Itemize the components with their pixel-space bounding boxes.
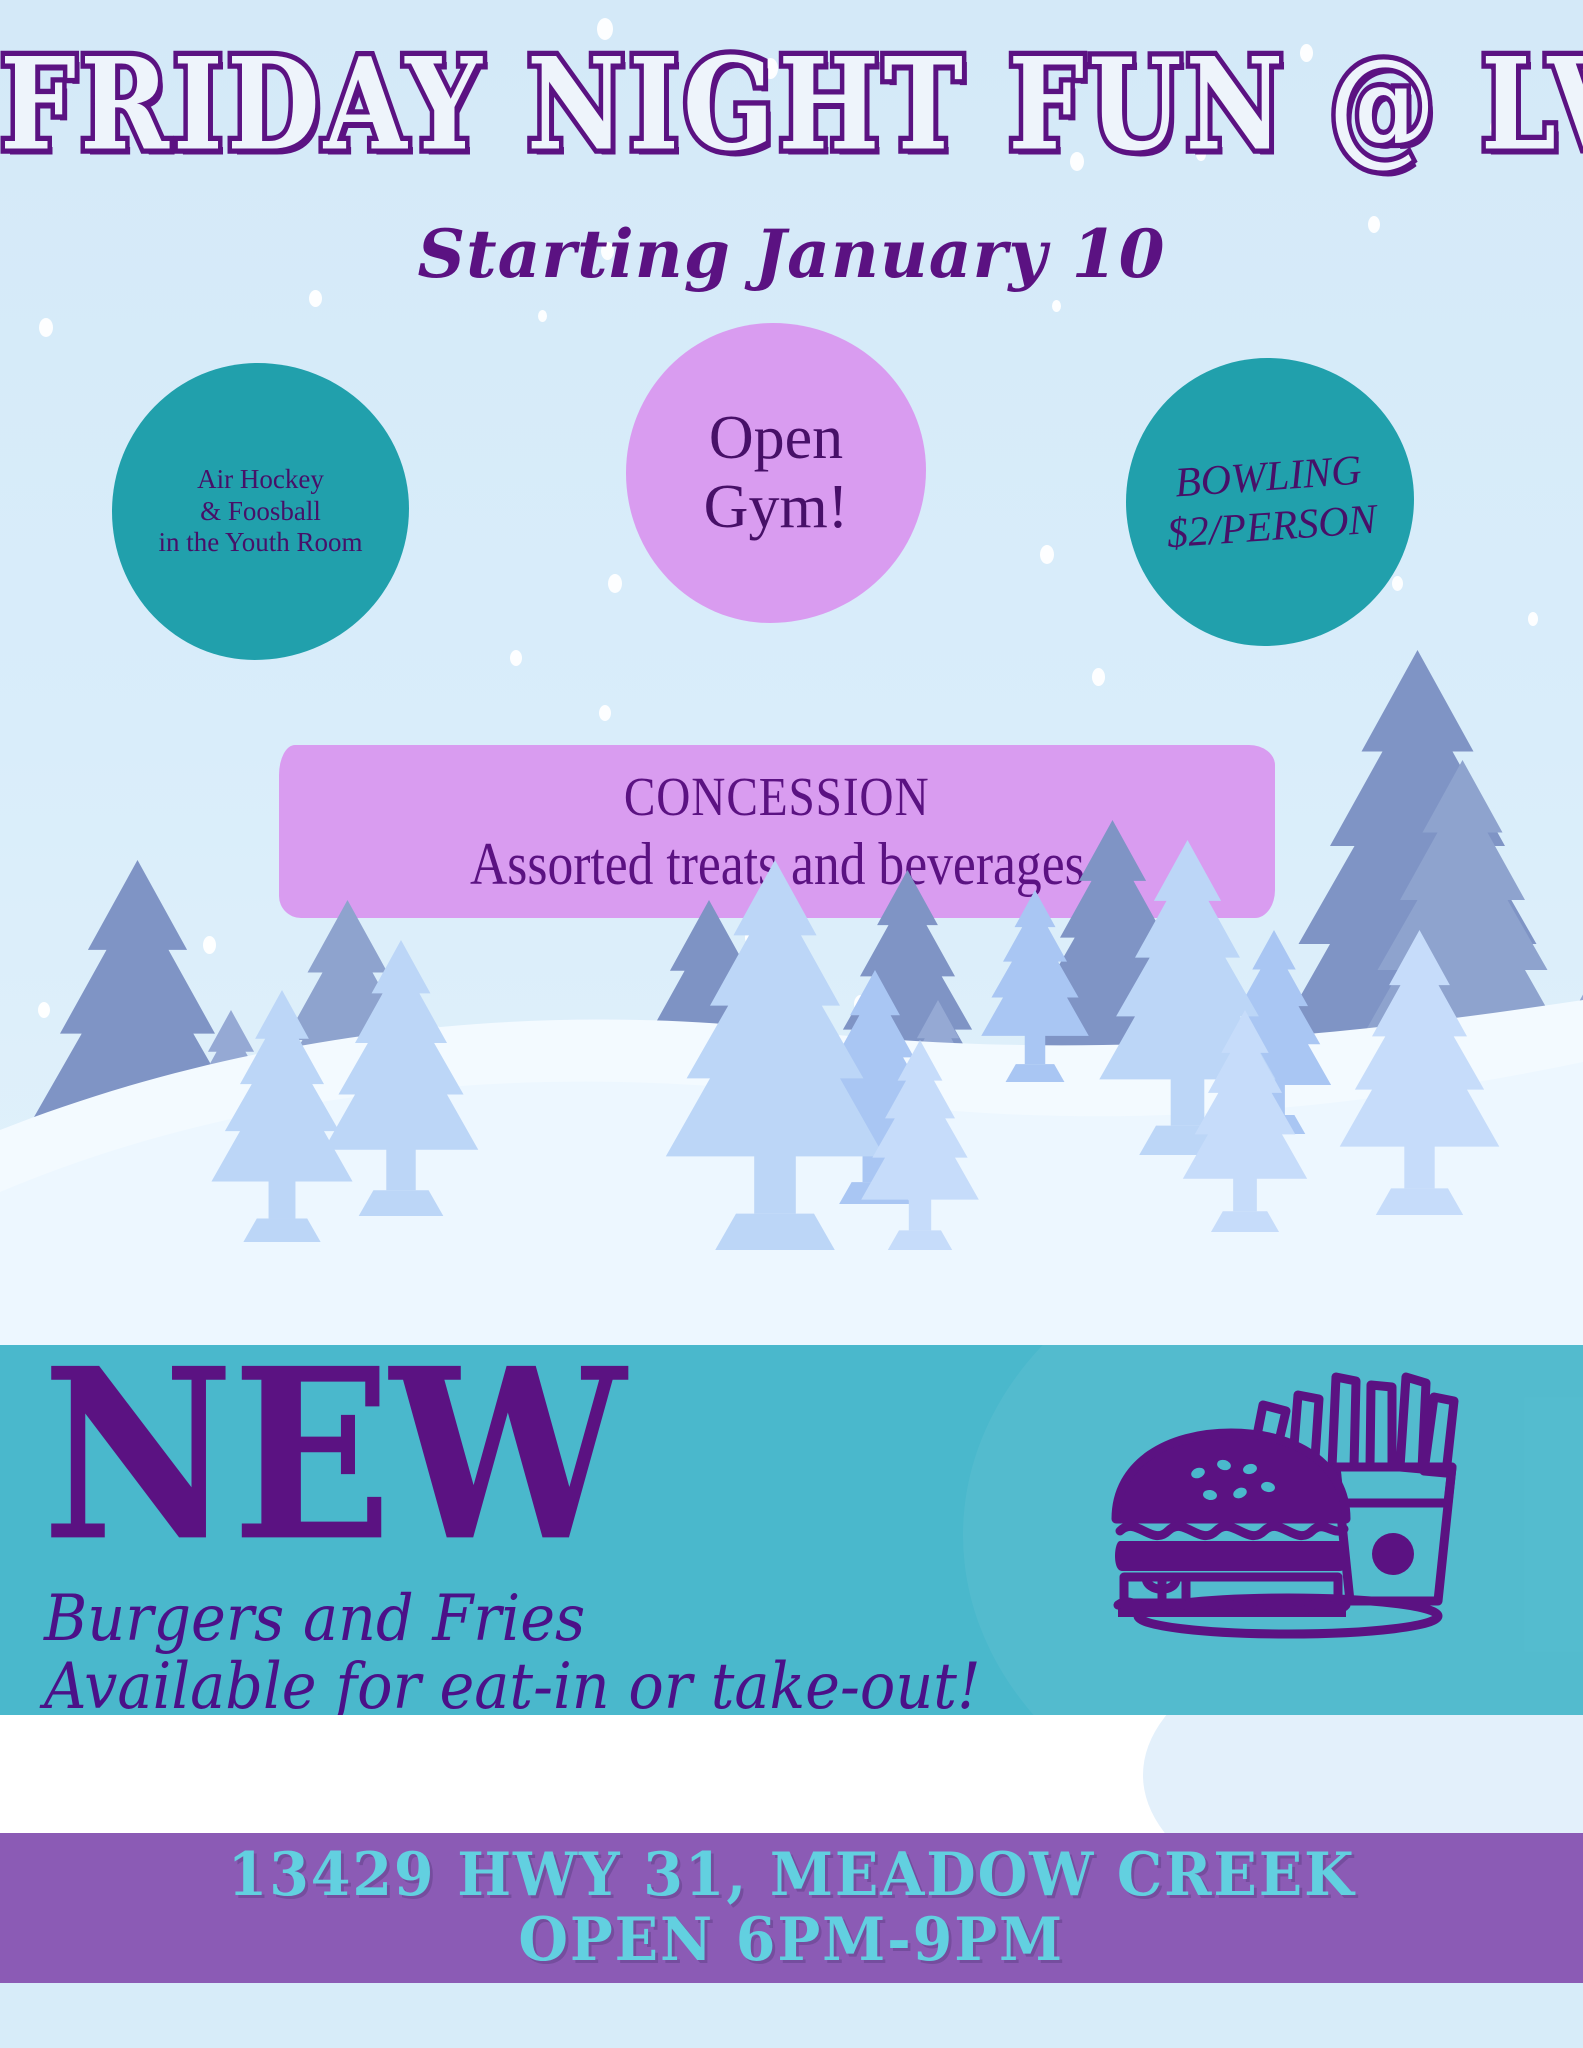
divider-curve-shape [1143,1715,1583,1833]
footer-address: 13429 HWY 31, MEADOW CREEK [228,1843,1356,1908]
white-divider-strip [0,1715,1583,1833]
burger-and-fries-icon [1100,1355,1470,1645]
footer-banner: 13429 HWY 31, MEADOW CREEK OPEN 6PM-9PM [0,1833,1583,1983]
promo-headline: NEW [42,1338,624,1573]
footer-hours: OPEN 6PM-9PM [519,1908,1065,1973]
promo-line-1: Burgers and Fries [44,1582,585,1656]
flyer-poster: FRIDAY NIGHT FUN @ LVCC Starting January… [0,0,1583,2048]
promo-line-2: Available for eat-in or take-out! [44,1650,981,1724]
winter-landscape [0,0,1583,1350]
